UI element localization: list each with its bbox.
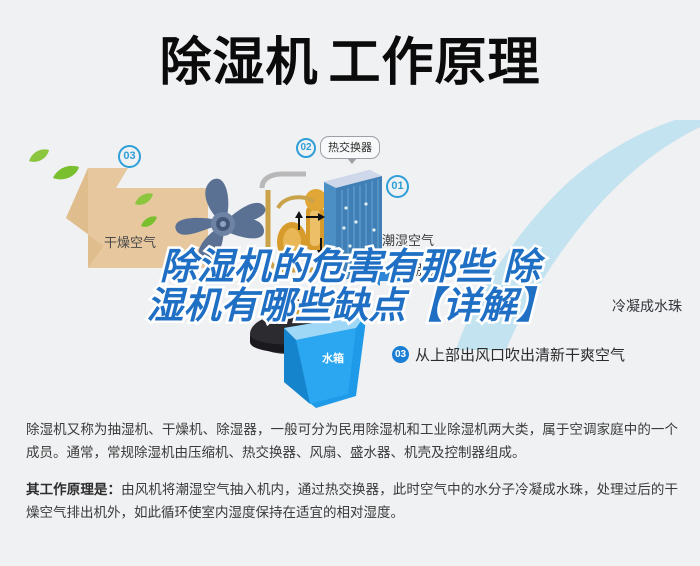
leaf-icon [28, 148, 50, 169]
heat-exchanger-bubble-text: 热交换器 [320, 136, 380, 159]
page-title-part2: 工作原理 [329, 34, 541, 92]
label-heat-exchanger: 02 热交换器 [296, 136, 380, 159]
article-body: 除湿机又称为抽湿机、干燥机、除湿器，一般可分为民用除湿机和工业除湿机两大类，属于… [26, 418, 678, 524]
water-tank-icon [248, 298, 366, 402]
step-03-caption: 03 从上部出风口吹出清新干爽空气 [392, 344, 625, 365]
step-badge-03-left: 03 [118, 145, 141, 168]
dry-air-label: 干燥空气 [104, 232, 156, 251]
article-paragraph-2: 其工作原理是：由风机将潮湿空气抽入机内，通过热交换器，此时空气中的水分子冷凝成水… [26, 478, 678, 524]
article-paragraph-1: 除湿机又称为抽湿机、干燥机、除湿器，一般可分为民用除湿机和工业除湿机两大类，属于… [26, 418, 678, 464]
step-badge-01: 01 [386, 175, 409, 198]
step-badge-03-bottom: 03 [392, 346, 409, 363]
leaf-icon [52, 164, 80, 187]
moist-air-label: 潮湿空气 [382, 230, 434, 249]
step-03-caption-text: 从上部出风口吹出清新干爽空气 [415, 344, 625, 365]
obscured-text-line-3: 冷凝成水珠 [612, 296, 682, 316]
article-paragraph-2-label: 其工作原理是： [26, 482, 121, 497]
leaf-icon [134, 192, 154, 212]
air-inlet-arrow-icon [368, 268, 402, 291]
page-title-band: 除湿机工作原理 [0, 0, 700, 126]
article-paragraph-2-rest: 由风机将潮湿空气抽入机内，通过热交换器，此时空气中的水分子冷凝成水珠，处理过后的… [26, 482, 678, 520]
working-principle-diagram: 02 热交换器 03 干燥空气 01 潮湿空气 潮湿 潮湿空气 冷凝成水珠 [0, 120, 700, 410]
step-badge-02: 02 [296, 138, 316, 158]
obscured-text-line-1: 潮湿 [408, 260, 436, 280]
page-title: 除湿机工作原理 [159, 37, 540, 89]
water-tank-label: 水箱 [322, 350, 344, 366]
infographic-page: 除湿机工作原理 [0, 0, 700, 566]
page-title-part1: 除湿机 [159, 34, 318, 92]
